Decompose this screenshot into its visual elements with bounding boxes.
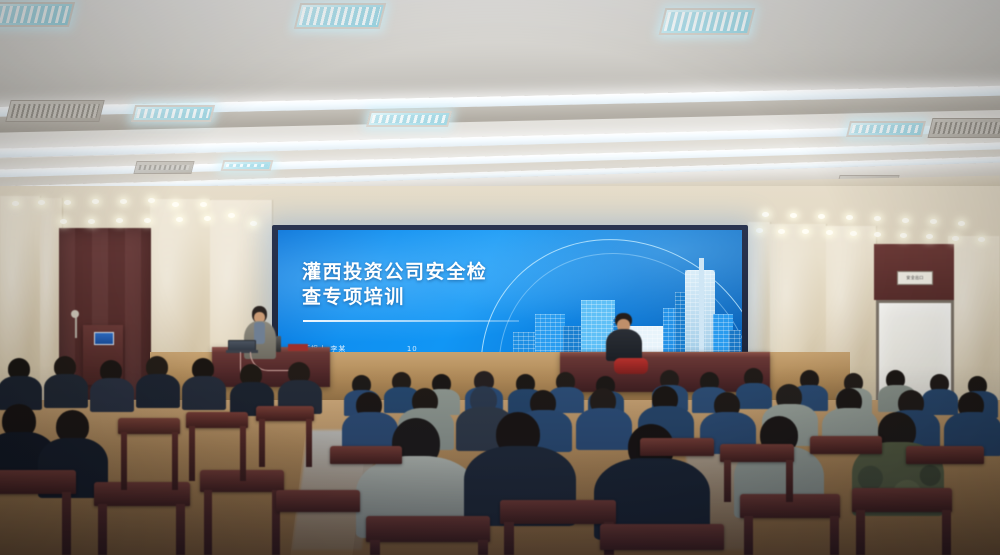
- lectern-mic-head: [71, 310, 79, 318]
- meeting-room-photo: 安全出口: [0, 0, 1000, 555]
- slide-title-line-1: 灌西投资公司安全检: [302, 260, 552, 285]
- led-presentation-screen[interactable]: 灌西投资公司安全检 查专项培训 汇报人:李某 10: [272, 225, 748, 371]
- lectern-logo: [94, 332, 114, 345]
- red-bag-on-table: [614, 358, 648, 374]
- slide-title: 灌西投资公司安全检 查专项培训: [302, 260, 552, 310]
- ceiling-light-panel: [0, 2, 75, 27]
- ceiling-light-panel: [221, 160, 274, 171]
- lectern-mic: [75, 316, 77, 338]
- slide-surface: 灌西投资公司安全检 查专项培训 汇报人:李某 10: [278, 230, 742, 366]
- chair[interactable]: [186, 412, 248, 428]
- red-folder: [288, 344, 308, 351]
- chair[interactable]: [906, 446, 984, 464]
- chair[interactable]: [810, 436, 882, 454]
- seated-presenter-torso: [606, 329, 642, 361]
- chair[interactable]: [330, 446, 402, 464]
- exit-sign-label: 安全出口: [906, 276, 923, 280]
- chair[interactable]: [366, 516, 490, 542]
- exit-sign: 安全出口: [897, 271, 933, 285]
- ceiling-light-panel: [294, 3, 386, 29]
- ceiling-light-panel: [846, 121, 926, 137]
- chair[interactable]: [276, 490, 360, 512]
- slide-title-underline: [303, 320, 519, 322]
- chair[interactable]: [852, 488, 952, 512]
- chair[interactable]: [118, 418, 180, 434]
- ceiling-light-panel: [366, 111, 452, 127]
- chair[interactable]: [500, 500, 616, 524]
- chair[interactable]: [640, 438, 714, 456]
- ceiling-light-panel: [131, 105, 215, 122]
- ceiling-light-panel: [659, 8, 756, 35]
- ceiling-air-vent: [5, 100, 104, 122]
- chair[interactable]: [720, 444, 794, 462]
- ceiling-air-vent: [133, 161, 194, 174]
- chair[interactable]: [0, 470, 76, 494]
- water-bottle: [276, 336, 281, 352]
- slide-title-line-2: 查专项培训: [302, 285, 552, 310]
- ceiling-air-vent: [928, 118, 1000, 138]
- chair[interactable]: [600, 524, 724, 550]
